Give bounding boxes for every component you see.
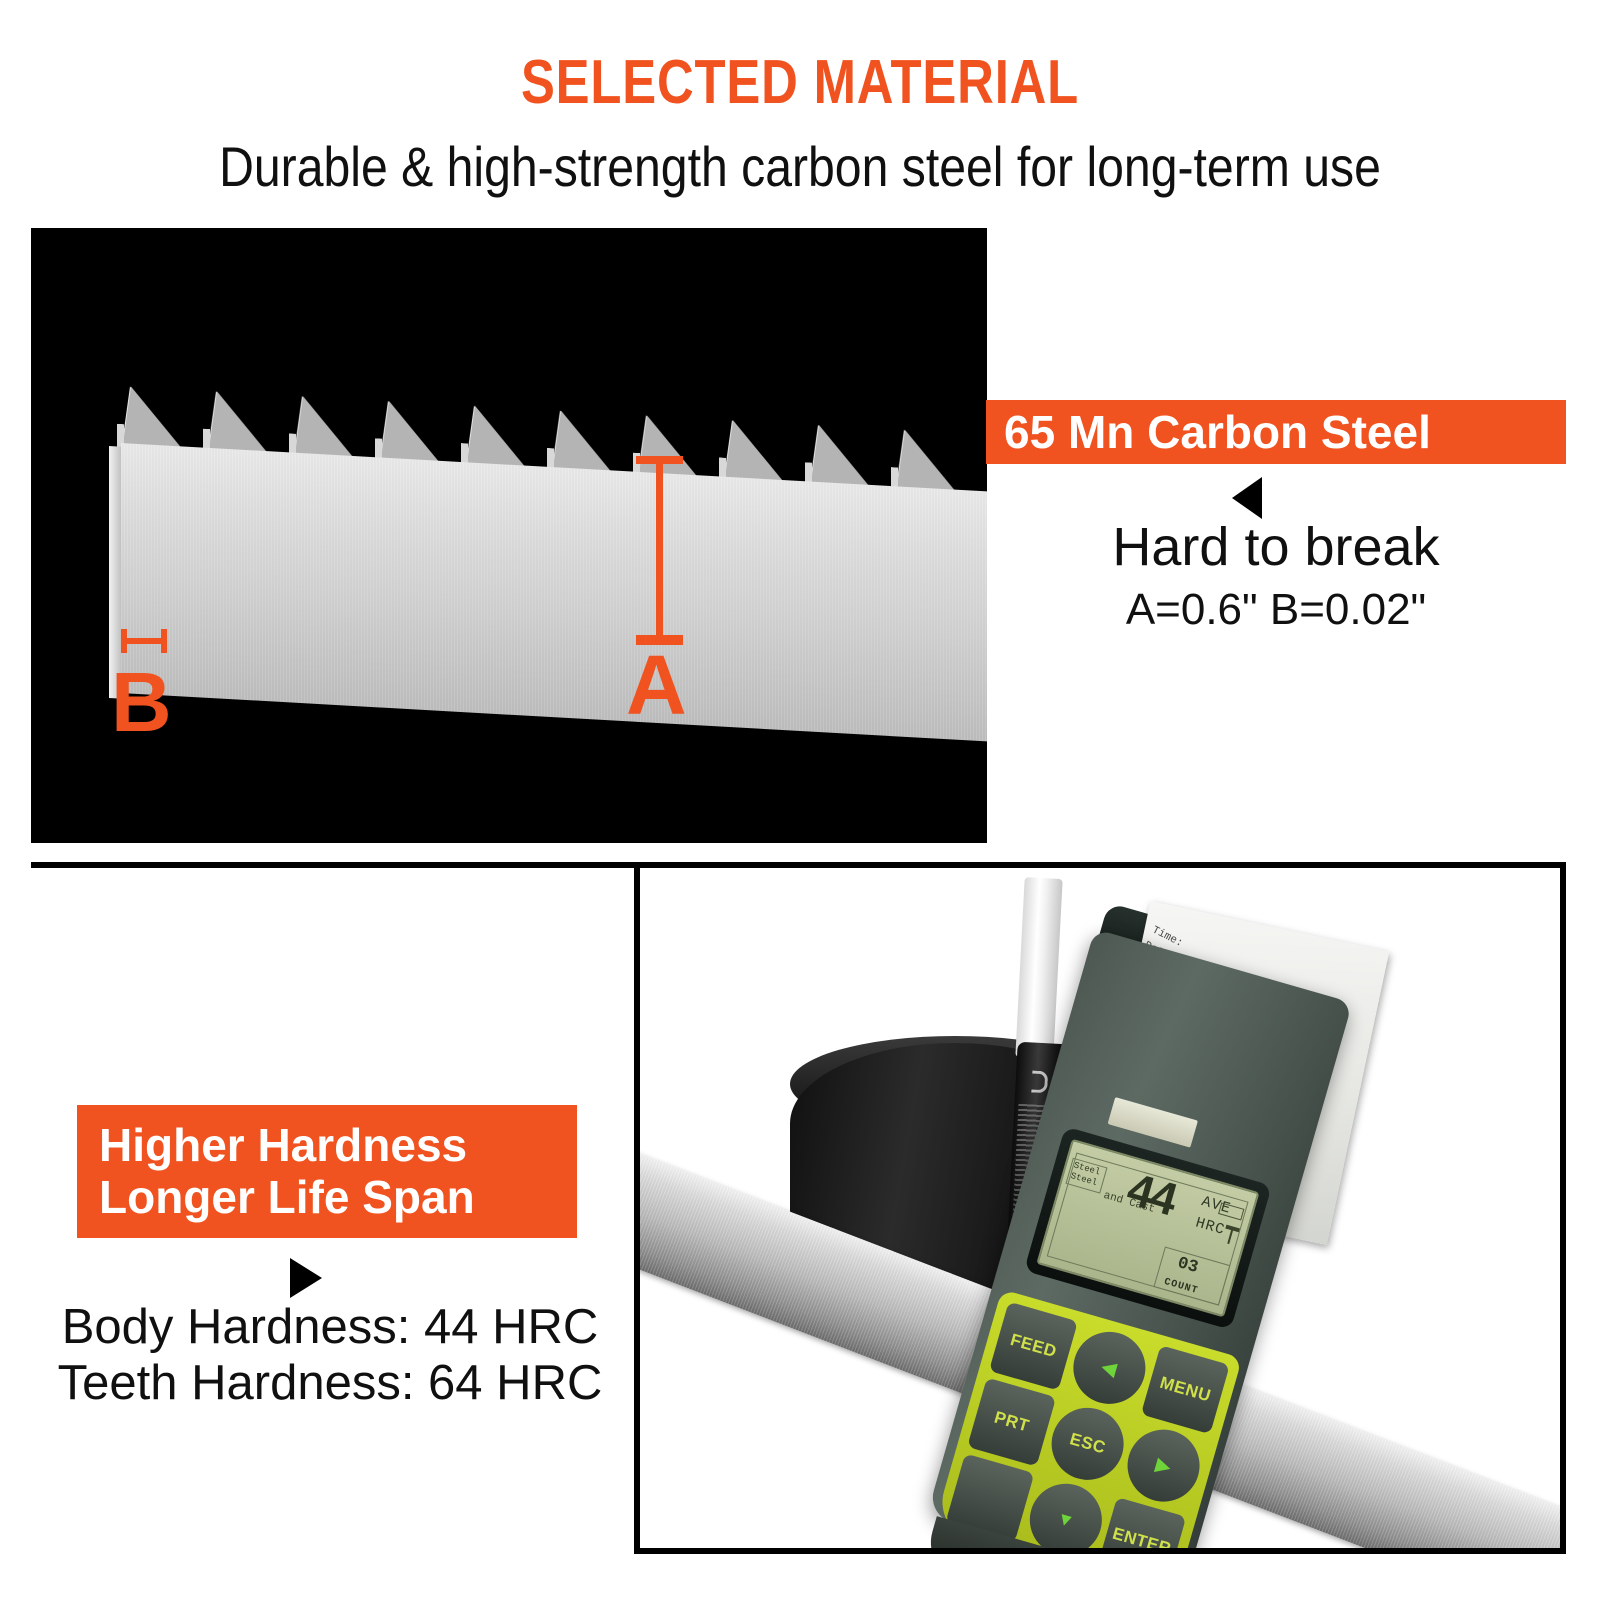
- key-prt[interactable]: PRT: [967, 1378, 1056, 1467]
- material-badge-label: 65 Mn Carbon Steel: [1004, 409, 1431, 455]
- hardness-badge: Higher Hardness Longer Life Span: [77, 1105, 577, 1238]
- dimension-values-text: A=0.6" B=0.02": [986, 586, 1566, 634]
- hardness-badge-line-2: Longer Life Span: [99, 1172, 577, 1224]
- section-divider: [31, 862, 637, 868]
- dimension-b-label: B: [111, 660, 172, 744]
- teeth-hardness-text: Teeth Hardness: 64 HRC: [40, 1356, 620, 1411]
- key-enter[interactable]: ENTER: [1097, 1497, 1186, 1548]
- body-hardness-text: Body Hardness: 44 HRC: [40, 1300, 620, 1355]
- blade-body: [121, 443, 987, 742]
- key-arrow-right[interactable]: ▶: [1119, 1421, 1208, 1510]
- key-esc[interactable]: ESC: [1043, 1399, 1132, 1488]
- key-arrow-down[interactable]: ▼: [1021, 1475, 1110, 1548]
- lcd-bezel: Steel Steel and Cast 44 AVE HRC 03 COUNT: [1024, 1126, 1272, 1329]
- dimension-a-line: [656, 460, 663, 640]
- header-section: SELECTED MATERIAL Durable & high-strengt…: [0, 0, 1600, 215]
- page-subtitle: Durable & high-strength carbon steel for…: [112, 135, 1488, 199]
- dimension-a-label: A: [626, 643, 687, 727]
- key-feed[interactable]: FEED: [989, 1302, 1078, 1391]
- hardness-test-photo: LB8678 HLD: [634, 862, 1566, 1554]
- lcd-count-label: COUNT: [1163, 1277, 1200, 1297]
- blade-closeup-photo: A B: [31, 228, 987, 843]
- arrow-left-icon: [1232, 477, 1262, 519]
- material-badge: 65 Mn Carbon Steel: [986, 400, 1566, 464]
- dimension-b-marker: [121, 638, 167, 644]
- arrow-right-icon: [290, 1258, 322, 1298]
- lcd-count-value: 03: [1175, 1254, 1200, 1278]
- probe-rod: [1015, 877, 1062, 1059]
- probe-d-marking-icon: [1031, 1070, 1048, 1093]
- hard-to-break-text: Hard to break: [986, 518, 1566, 577]
- device-sticker: [1108, 1097, 1198, 1148]
- key-menu[interactable]: MENU: [1141, 1345, 1230, 1434]
- hardness-badge-line-1: Higher Hardness: [99, 1120, 577, 1172]
- key-arrow-left[interactable]: ◀: [1065, 1323, 1154, 1412]
- page-title: SELECTED MATERIAL: [144, 52, 1456, 114]
- device-keypad[interactable]: FEED ◀ MENU PRT ESC ▶ ▼ ENTER: [933, 1289, 1242, 1548]
- lcd-screen: Steel Steel and Cast 44 AVE HRC 03 COUNT: [1036, 1139, 1259, 1318]
